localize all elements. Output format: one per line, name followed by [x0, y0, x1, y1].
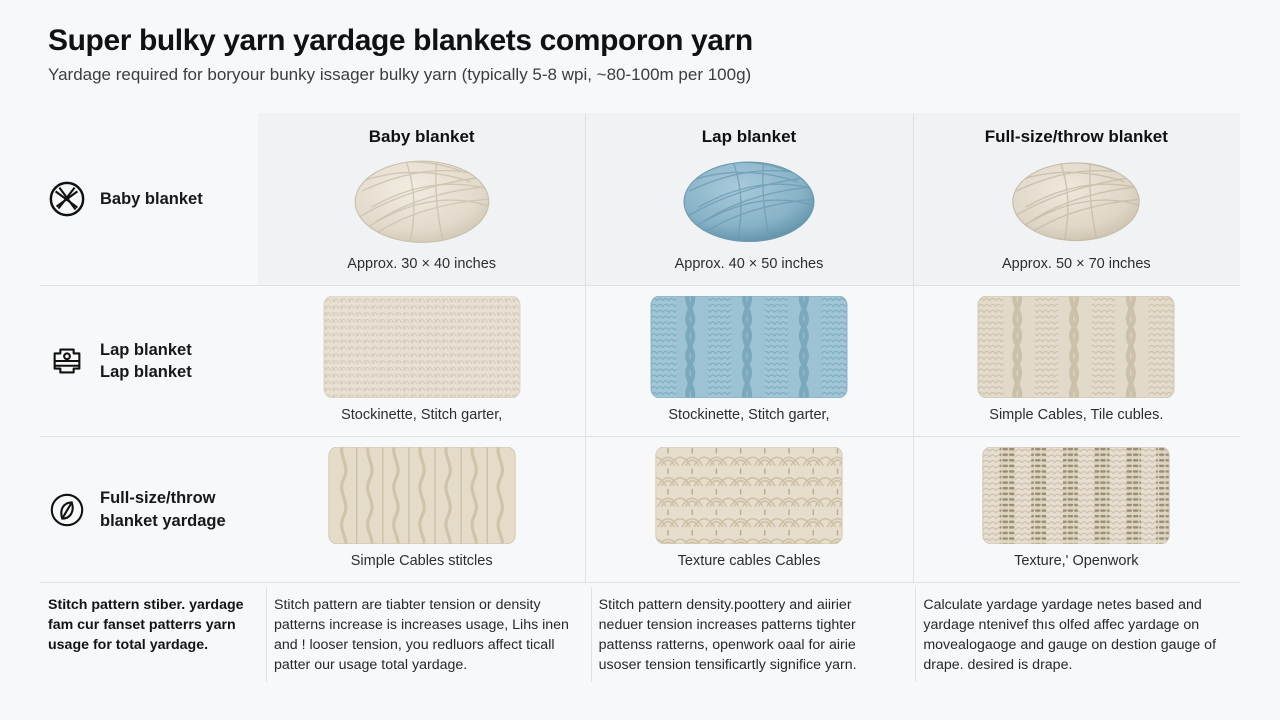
row-label-lap-blanket: Lap blanket Lap blanket	[40, 286, 258, 436]
cell-caption: Texture cables Cables	[678, 552, 821, 570]
cell-caption: Simple Cables, Tile cubles.	[989, 406, 1163, 424]
cell-caption: Texture,' Openwork	[1014, 552, 1138, 570]
row-label-text: Baby blanket	[100, 188, 203, 210]
table-row: Baby blanket Baby blanket	[40, 113, 1240, 285]
cell-baby-lap: Lap blanket	[585, 113, 912, 285]
row-label-baby-blanket: Baby blanket	[40, 113, 258, 285]
cell-lap-lap: Stockinette, Stitch garter,	[585, 286, 912, 436]
infographic-page: Super bulky yarn yardage blankets compor…	[0, 0, 1280, 720]
cell-caption: Approx. 40 × 50 inches	[675, 255, 824, 273]
yarn-ball-illustration	[663, 153, 835, 247]
cell-caption: Approx. 30 × 40 inches	[347, 255, 496, 273]
cell-baby-baby: Baby blanket	[258, 113, 585, 285]
page-title: Super bulky yarn yardage blankets compor…	[48, 24, 1280, 58]
swatch-stockinette	[322, 296, 522, 398]
cell-full-full: Texture,' Openwork	[913, 437, 1240, 582]
cell-full-lap: Texture cables Cables	[585, 437, 912, 582]
header: Super bulky yarn yardage blankets compor…	[0, 0, 1280, 86]
swatch-rib	[322, 447, 522, 544]
row-cells: Baby blanket	[258, 113, 1240, 285]
folded-blanket-icon	[48, 342, 86, 380]
row-cells: Stockinette, Stitch garter,	[258, 286, 1240, 436]
row-label-full-size-throw: Full-size/throw blanket yardage	[40, 437, 258, 582]
row-label-text: Lap blanket Lap blanket	[100, 339, 192, 384]
cell-lap-full: Simple Cables, Tile cubles.	[913, 286, 1240, 436]
footer-notes: Stitch pattern stiber. yardage fam cur f…	[40, 583, 1240, 686]
row-label-text: Full-size/throw blanket yardage	[100, 487, 250, 532]
swatch-cable-blue	[649, 296, 849, 398]
swatch-cable-cream	[976, 296, 1176, 398]
row-cells: Simple Cables stitcles	[258, 437, 1240, 582]
swatch-openwork	[976, 447, 1176, 544]
footer-note-2: Stitch pattern density.poottery and aiir…	[591, 583, 916, 686]
cell-baby-full: Full-size/throw blanket	[913, 113, 1240, 285]
table-row: Full-size/throw blanket yardage	[40, 437, 1240, 582]
footer-note-0: Stitch pattern stiber. yardage fam cur f…	[40, 583, 266, 686]
cell-caption: Approx. 50 × 70 inches	[1002, 255, 1151, 273]
footer-note-1: Stitch pattern are tiabter tension or de…	[266, 583, 591, 686]
column-header-baby-blanket: Baby blanket	[369, 127, 475, 147]
yarn-ball-illustration	[336, 153, 508, 247]
column-header-full-size-throw-blanket: Full-size/throw blanket	[985, 127, 1168, 147]
column-header-lap-blanket: Lap blanket	[702, 127, 796, 147]
cell-caption: Stockinette, Stitch garter,	[341, 406, 502, 424]
swatch-texture	[649, 447, 849, 544]
cell-caption: Stockinette, Stitch garter,	[668, 406, 829, 424]
footer-note-3: Calculate yardage yardage netes based an…	[915, 583, 1240, 686]
leaf-icon	[48, 491, 86, 529]
table-row: Lap blanket Lap blanket	[40, 286, 1240, 436]
yarn-ball-icon	[48, 180, 86, 218]
page-subtitle: Yardage required for boryour bunky issag…	[48, 64, 1280, 86]
yarn-ball-illustration	[990, 153, 1162, 247]
cell-caption: Simple Cables stitcles	[351, 552, 493, 570]
cell-full-baby: Simple Cables stitcles	[258, 437, 585, 582]
comparison-grid: Baby blanket Baby blanket	[40, 113, 1240, 686]
cell-lap-baby: Stockinette, Stitch garter,	[258, 286, 585, 436]
